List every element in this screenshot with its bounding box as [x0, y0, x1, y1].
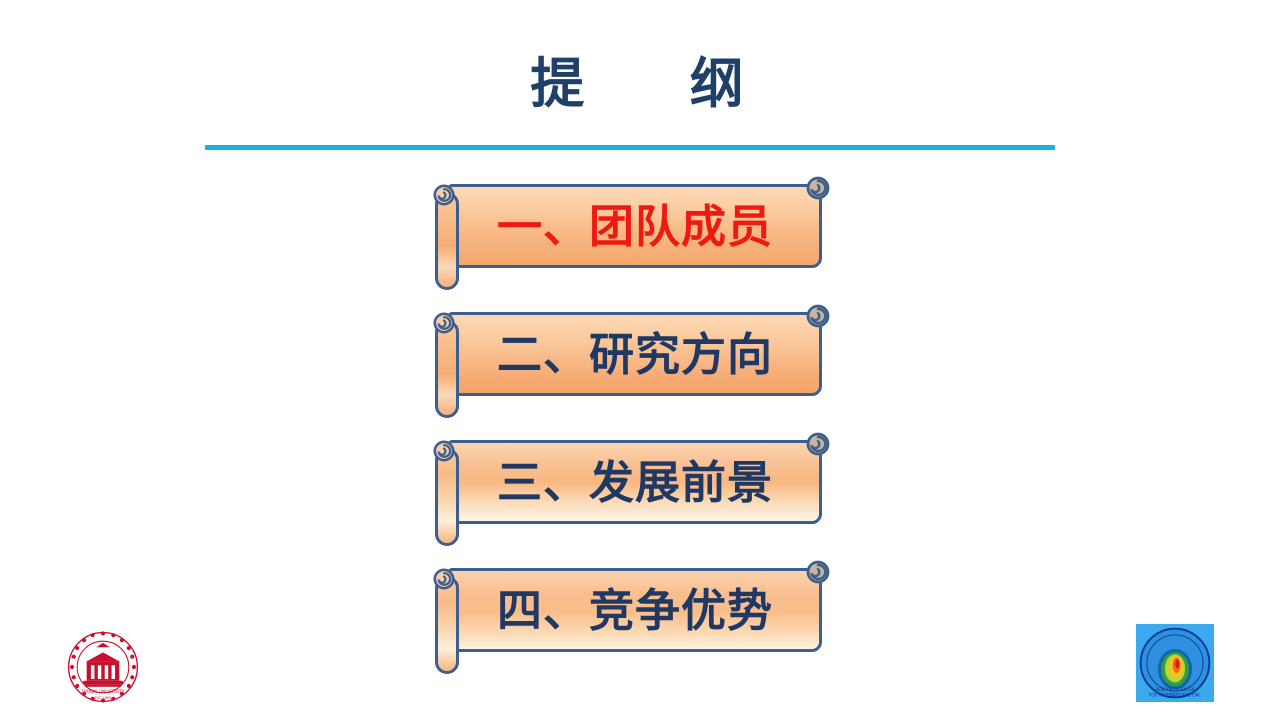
outline-item-4[interactable]: 四、竞争优势 — [430, 560, 824, 652]
page-title: 提 纲 — [0, 56, 1280, 110]
outline-item-label: 一、团队成员 — [448, 184, 822, 268]
research-center-logo: RESEARCH CENTER FOR ANTENNAS AND EMC — [1136, 624, 1214, 702]
svg-text:FOR ANTENNAS AND EMC: FOR ANTENNAS AND EMC — [1149, 693, 1201, 698]
outline-item-1[interactable]: 一、团队成员 — [430, 176, 824, 268]
outline-item-label: 二、研究方向 — [448, 312, 822, 396]
title-divider-rule — [205, 145, 1055, 150]
outline-item-3[interactable]: 三、发展前景 — [430, 432, 824, 524]
svg-text:RESEARCH CENTER: RESEARCH CENTER — [1155, 687, 1194, 692]
university-seal-logo: TIANJIN UNIVERSITY EST. 1895 — [60, 624, 146, 710]
svg-text:TIANJIN UNIVERSITY: TIANJIN UNIVERSITY — [81, 689, 125, 695]
outline-item-label: 四、竞争优势 — [448, 568, 822, 652]
outline-item-label: 三、发展前景 — [448, 440, 822, 524]
outline-item-2[interactable]: 二、研究方向 — [430, 304, 824, 396]
presentation-slide: 提 纲 一、团队成员 二、研究方向 — [0, 0, 1280, 720]
svg-text:EST. 1895: EST. 1895 — [95, 696, 112, 700]
